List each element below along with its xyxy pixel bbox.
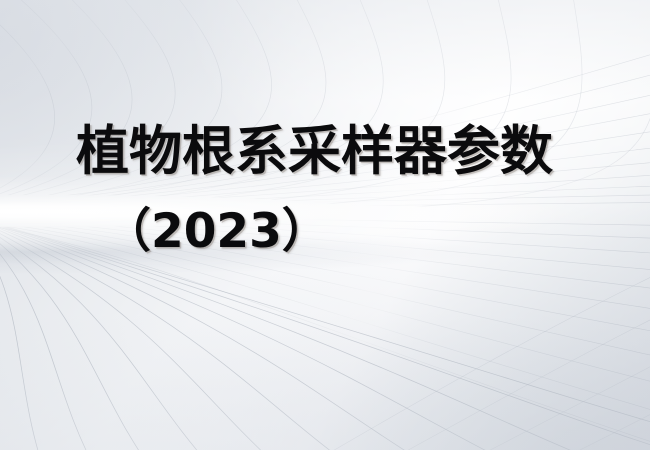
slide-subtitle-year: （2023） [104, 203, 329, 261]
slide-title: 植物根系采样器参数 [76, 122, 553, 182]
title-slide: 植物根系采样器参数 （2023） [0, 0, 650, 450]
slide-text-block: 植物根系采样器参数 （2023） [0, 0, 650, 450]
